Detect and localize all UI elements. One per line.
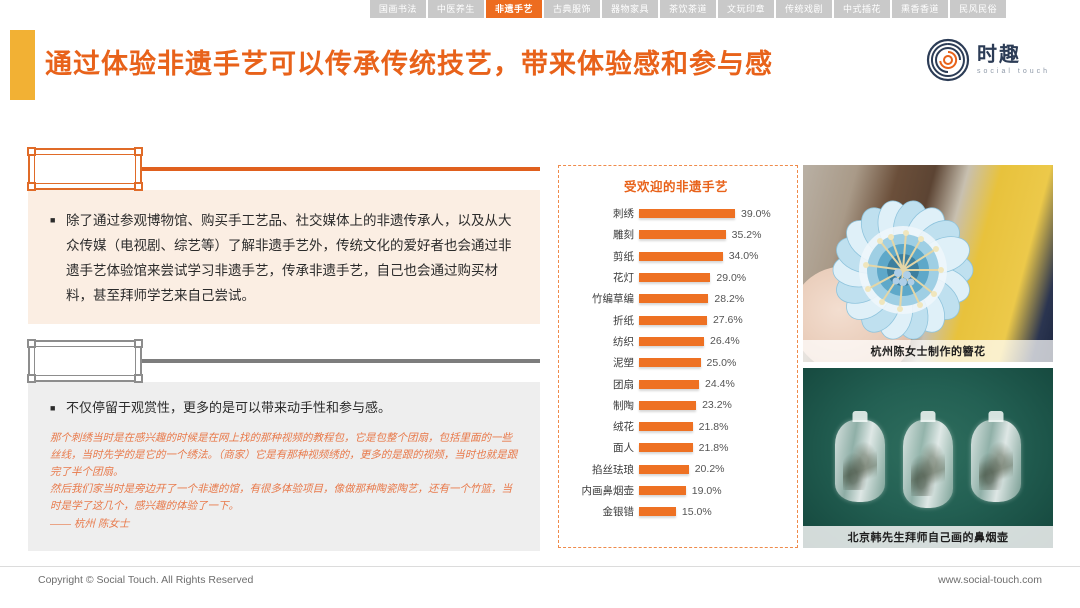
chart-row: 绒花21.8% [563,416,789,437]
section-frame-need [28,340,142,382]
chart-bar [639,507,676,516]
footer-copyright: Copyright © Social Touch. All Rights Res… [38,574,253,586]
chart-bar [639,316,707,325]
logo-name-cn: 时趣 [977,45,1050,65]
brand-logo: 时趣 social touch [926,38,1050,82]
chart-category-label: 刺绣 [563,206,639,221]
chart-row: 折纸27.6% [563,309,789,330]
chart-category-label: 内画鼻烟壶 [563,483,639,498]
chart-bar [639,337,704,346]
left-content-column: 场景还原 除了通过参观博物馆、购买手工艺品、社交媒体上的非遗传承人，以及从大众传… [28,148,540,551]
popular-crafts-chart: 受欢迎的非遗手艺 刺绣39.0%雕刻35.2%剪纸34.0%花灯29.0%竹编草… [558,165,798,548]
chart-value-label: 19.0% [692,485,722,497]
tab-gudianfushi[interactable]: 古典服饰 [544,0,600,18]
chart-row: 团扇24.4% [563,373,789,394]
snuff-bottle-3 [971,420,1021,502]
section-frame-scene [28,148,142,190]
chart-bar-rows: 刺绣39.0%雕刻35.2%剪纸34.0%花灯29.0%竹编草编28.2%折纸2… [563,203,789,522]
tab-zhongshichahua[interactable]: 中式插花 [834,0,890,18]
chart-bar [639,273,710,282]
chart-value-label: 28.2% [714,293,744,305]
chart-category-label: 花灯 [563,270,639,285]
tab-wenwanyinzhang[interactable]: 文玩印章 [718,0,774,18]
chart-category-label: 掐丝珐琅 [563,462,639,477]
chart-category-label: 金银错 [563,504,639,519]
chart-value-label: 27.6% [713,314,743,326]
frame-corner-tr [134,339,143,348]
chart-category-label: 面人 [563,440,639,455]
chart-value-label: 21.8% [699,421,729,433]
chart-value-label: 21.8% [699,442,729,454]
chart-bar [639,401,696,410]
panel-need-satisfaction: 不仅停留于观赏性，更多的是可以带来动手性和参与感。 那个刺绣当时是在感兴趣的时候… [28,382,540,551]
tab-zhongyiyangsheng[interactable]: 中医养生 [428,0,484,18]
title-accent-bar [10,30,35,100]
chart-value-label: 15.0% [682,506,712,518]
chart-value-label: 26.4% [710,335,740,347]
chart-value-label: 24.4% [705,378,735,390]
frame-corner-bl [27,374,36,383]
logo-name-en: social touch [977,68,1050,75]
chart-bar [639,380,699,389]
section-rule-need [138,359,540,363]
slide-root: 国画书法 中医养生 非遗手艺 古典服饰 器物家具 茶饮茶道 文玩印章 传统戏剧 … [0,0,1080,608]
tab-feiyishouyi[interactable]: 非遗手艺 [486,0,542,18]
category-tab-bar: 国画书法 中医养生 非遗手艺 古典服饰 器物家具 茶饮茶道 文玩印章 传统戏剧 … [0,0,1080,18]
chart-row: 掐丝珐琅20.2% [563,459,789,480]
tab-qiwujiaju[interactable]: 器物家具 [602,0,658,18]
chart-row: 纺织26.4% [563,331,789,352]
chart-row: 雕刻35.2% [563,224,789,245]
frame-corner-bl [27,182,36,191]
chart-category-label: 纺织 [563,334,639,349]
frame-corner-tl [27,339,36,348]
chart-bar [639,252,723,261]
scene-bullet-text: 除了通过参观博物馆、购买手工艺品、社交媒体上的非遗传承人，以及从大众传媒（电视剧… [50,208,518,308]
chart-value-label: 25.0% [707,357,737,369]
photo-snuff-bottles: 北京韩先生拜师自己画的鼻烟壶 [803,368,1053,548]
frame-corner-tr [134,147,143,156]
snuff-bottle-1 [835,420,885,502]
photo-caption-hairpin: 杭州陈女士制作的簪花 [803,340,1053,362]
chart-row: 刺绣39.0% [563,203,789,224]
chart-category-label: 折纸 [563,313,639,328]
tabbar-right-spacer [1008,0,1012,18]
chart-title: 受欢迎的非遗手艺 [563,176,789,195]
chart-row: 金银错15.0% [563,501,789,522]
section-rule-scene [138,167,540,171]
tab-chayinchadao[interactable]: 茶饮茶道 [660,0,716,18]
chart-value-label: 23.2% [702,399,732,411]
quote-attribution: —— 杭州 陈女士 [50,516,518,533]
fabric-flower-graphic [828,195,978,345]
chart-category-label: 雕刻 [563,227,639,242]
chart-bar [639,294,708,303]
section-frame-inner [34,154,136,184]
chart-bar [639,422,693,431]
chart-row: 内画鼻烟壶19.0% [563,480,789,501]
tab-chuantongxiju[interactable]: 传统戏剧 [776,0,832,18]
chart-category-label: 制陶 [563,398,639,413]
chart-bar [639,209,735,218]
section-header-scene: 场景还原 [28,148,540,192]
chart-row: 竹编草编28.2% [563,288,789,309]
footer-divider [0,566,1080,567]
frame-corner-br [134,374,143,383]
page-title: 通过体验非遗手艺可以传承传统技艺，带来体验感和参与感 [45,42,773,81]
chart-category-label: 竹编草编 [563,291,639,306]
spiral-fingerprint-icon [926,38,970,82]
tab-minfengminsu[interactable]: 民风民俗 [950,0,1006,18]
footer-website[interactable]: www.social-touch.com [938,574,1042,586]
chart-bar [639,486,686,495]
chart-value-label: 35.2% [732,229,762,241]
need-bullet-text: 不仅停留于观赏性，更多的是可以带来动手性和参与感。 [50,398,518,418]
panel-scene-restore: 除了通过参观博物馆、购买手工艺品、社交媒体上的非遗传承人，以及从大众传媒（电视剧… [28,190,540,324]
photo-caption-snuff: 北京韩先生拜师自己画的鼻烟壶 [803,526,1053,548]
snuff-bottle-2 [903,420,953,508]
user-quote-block: 那个刺绣当时是在感兴趣的时候是在网上找的那种视频的教程包，它是包整个团扇，包括里… [50,430,518,533]
chart-value-label: 39.0% [741,208,771,220]
section-header-need: 需求满足 [28,340,540,384]
chart-bar [639,230,726,239]
chart-bar [639,358,701,367]
photo-hairpin-flower: 杭州陈女士制作的簪花 [803,165,1053,362]
chart-category-label: 团扇 [563,377,639,392]
frame-corner-br [134,182,143,191]
quote-paragraph-2: 然后我们家当时是旁边开了一个非遗的馆，有很多体验项目，像做那种陶瓷陶艺，还有一个… [50,481,518,515]
chart-bar [639,443,693,452]
chart-row: 制陶23.2% [563,395,789,416]
tab-xunxiangxiangdao[interactable]: 熏香香道 [892,0,948,18]
frame-corner-tl [27,147,36,156]
chart-bar [639,465,689,474]
quote-paragraph-1: 那个刺绣当时是在感兴趣的时候是在网上找的那种视频的教程包，它是包整个团扇，包括里… [50,430,518,481]
chart-category-label: 绒花 [563,419,639,434]
chart-row: 花灯29.0% [563,267,789,288]
chart-value-label: 34.0% [729,250,759,262]
chart-category-label: 剪纸 [563,249,639,264]
chart-row: 面人21.8% [563,437,789,458]
chart-row: 剪纸34.0% [563,246,789,267]
section-frame-inner [34,346,136,376]
chart-category-label: 泥塑 [563,355,639,370]
chart-row: 泥塑25.0% [563,352,789,373]
tab-guohuashufa[interactable]: 国画书法 [370,0,426,18]
logo-wordmark: 时趣 social touch [977,45,1050,75]
chart-value-label: 29.0% [716,272,746,284]
chart-value-label: 20.2% [695,463,725,475]
tabbar-left-spacer [68,0,368,18]
